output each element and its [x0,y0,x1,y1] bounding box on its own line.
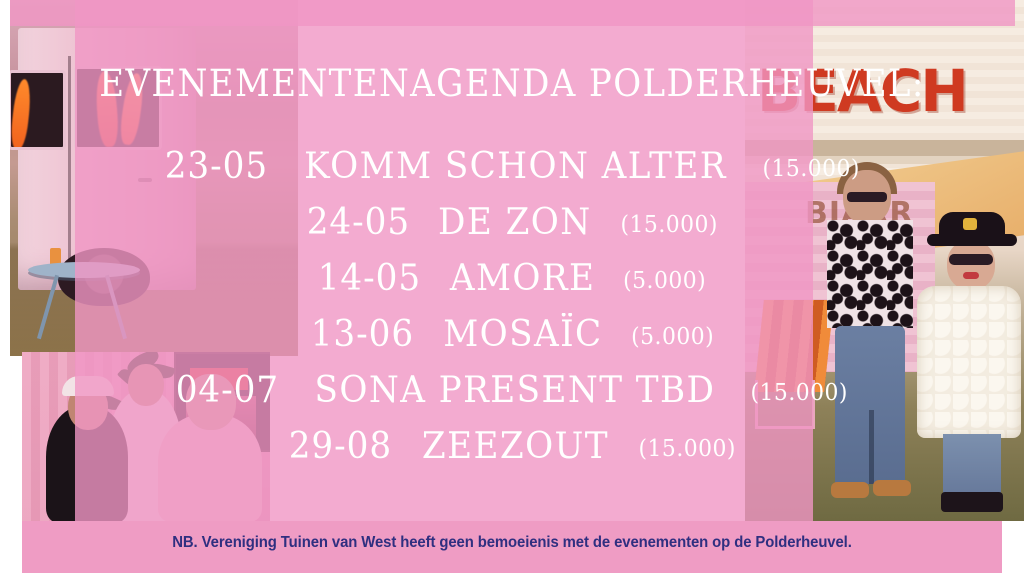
list-item: 24-05 DE ZON (15.000) [0,202,1024,258]
poster-content: EVENEMENTENAGENDA POLDERHEUVEL: 23-05 KO… [0,0,1024,585]
event-date: 04-07 [176,370,279,411]
event-name: KOMM SCHON ALTER [304,146,727,187]
disclaimer-note: NB. Vereniging Tuinen van West heeft gee… [42,534,983,552]
event-date: 14-05 [318,258,421,299]
event-name: DE ZON [438,202,592,243]
event-name: SONA PRESENT TBD [315,370,716,411]
list-item: 04-07 SONA PRESENT TBD (15.000) [0,370,1024,426]
event-name: MOSAÏC [443,314,602,355]
event-date: 24-05 [306,202,409,243]
event-capacity: (15.000) [762,156,859,182]
list-item: 23-05 KOMM SCHON ALTER (15.000) [0,146,1024,202]
event-capacity: (15.000) [638,436,735,462]
event-capacity: (5.000) [624,268,707,294]
event-capacity: (5.000) [631,324,714,350]
event-list: 23-05 KOMM SCHON ALTER (15.000) 24-05 DE… [0,146,1024,482]
event-name: AMORE [450,258,596,299]
event-date: 23-05 [165,146,268,187]
event-capacity: (15.000) [621,212,718,238]
list-item: 14-05 AMORE (5.000) [0,258,1024,314]
event-date: 13-06 [311,314,414,355]
event-agenda-poster: BEACH BIARR [0,0,1024,585]
list-item: 13-06 MOSAÏC (5.000) [0,314,1024,370]
event-date: 29-08 [289,426,392,467]
event-capacity: (15.000) [751,380,848,406]
event-name: ZEEZOUT [422,426,609,467]
list-item: 29-08 ZEEZOUT (15.000) [0,426,1024,482]
page-title: EVENEMENTENAGENDA POLDERHEUVEL: [41,62,983,105]
